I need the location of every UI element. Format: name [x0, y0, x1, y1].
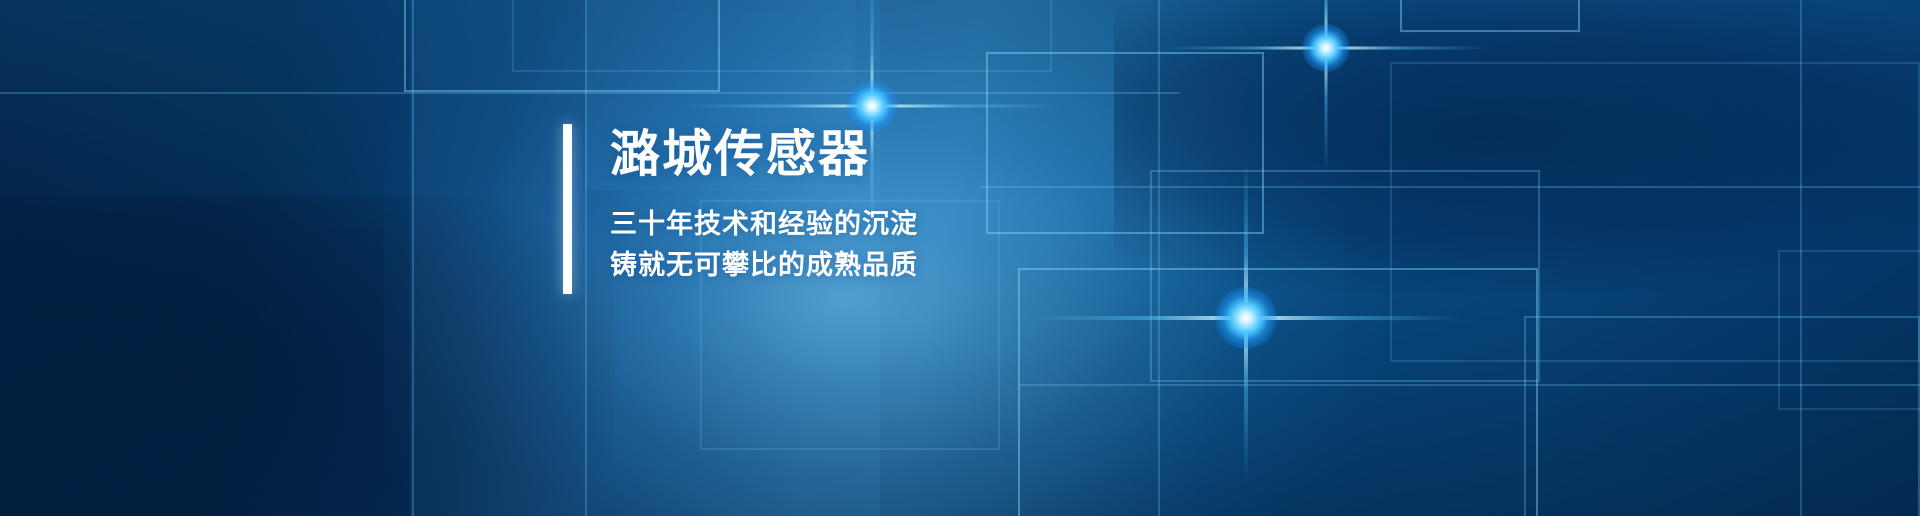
hero-banner: 潞城传感器 三十年技术和经验的沉淀 铸就无可攀比的成熟品质	[0, 0, 1920, 516]
banner-headline: 潞城传感器	[610, 126, 918, 182]
rect-top-center	[512, 0, 1052, 72]
banner-text-content: 潞城传感器 三十年技术和经验的沉淀 铸就无可攀比的成熟品质	[610, 124, 918, 294]
banner-subtitle-line-2: 铸就无可攀比的成熟品质	[610, 245, 918, 286]
white-vertical-accent-bar	[563, 124, 572, 294]
rect-bottom-center	[1018, 268, 1538, 516]
banner-text-block: 潞城传感器 三十年技术和经验的沉淀 铸就无可攀比的成熟品质	[563, 124, 918, 294]
rect-bottom-far	[1778, 250, 1920, 410]
banner-subtitle-line-1: 三十年技术和经验的沉淀	[610, 204, 918, 245]
rect-top-right-small	[1400, 0, 1580, 32]
